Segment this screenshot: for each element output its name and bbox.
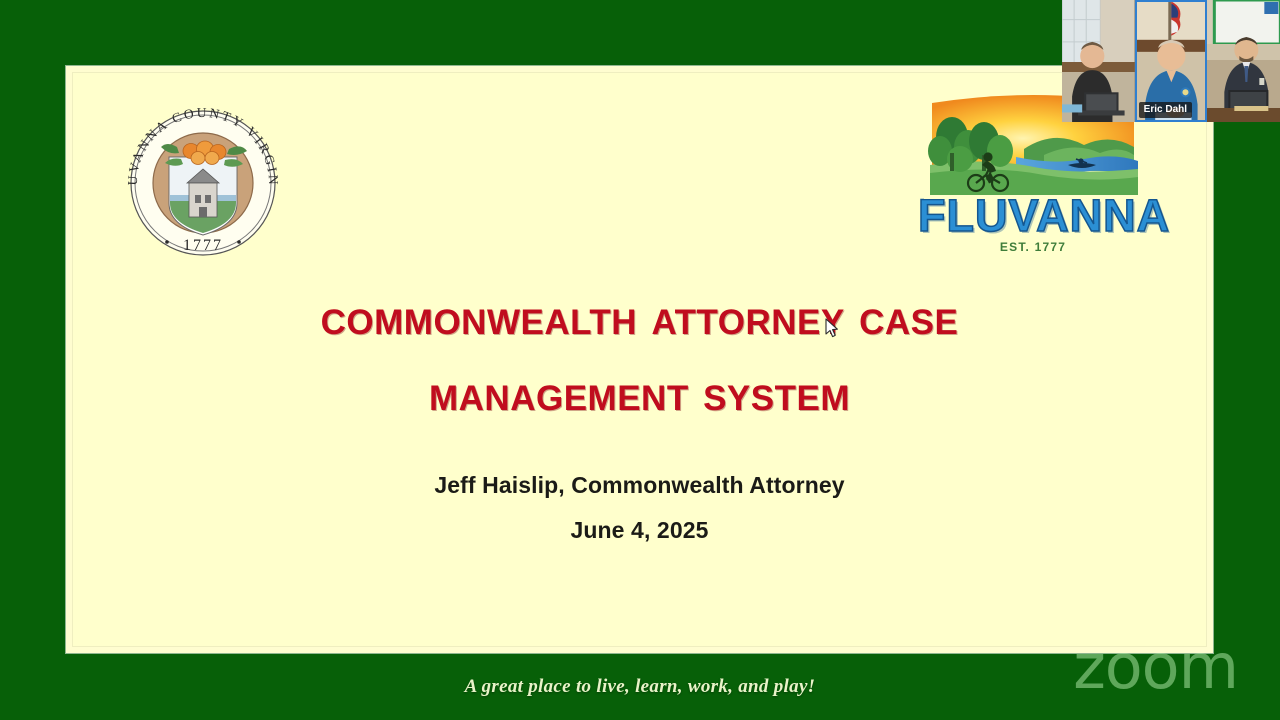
shared-slide-frame: FLUVANNA COUNTY VIRGINIA 1777 [66, 66, 1213, 653]
slide-title-line-1: Commonwealth Attorney Case [73, 279, 1206, 355]
fluvanna-wordmark: FLUVANNA [918, 195, 1148, 238]
presenter-name-line: Jeff Haislip, Commonwealth Attorney [73, 463, 1206, 508]
fluvanna-established-text: EST. 1777 [918, 240, 1148, 254]
video-tile-2-active-speaker[interactable]: Eric Dahl [1135, 0, 1208, 122]
svg-text:1777: 1777 [183, 237, 223, 254]
presentation-date-line: June 4, 2025 [73, 508, 1206, 553]
zoom-meeting-screen: FLUVANNA COUNTY VIRGINIA 1777 [0, 0, 1280, 720]
fluvanna-county-seal-icon: FLUVANNA COUNTY VIRGINIA 1777 [117, 91, 289, 263]
slide-title: Commonwealth Attorney Case Management Sy… [73, 279, 1206, 431]
video-tile-3[interactable] [1207, 0, 1280, 122]
participant-name-label: Eric Dahl [1139, 102, 1192, 118]
video-tile-1[interactable] [1062, 0, 1135, 122]
shared-slide: FLUVANNA COUNTY VIRGINIA 1777 [72, 72, 1207, 647]
zoom-watermark: zoom [1073, 636, 1238, 698]
slide-title-line-2: Management System [73, 355, 1206, 431]
participant-video-strip[interactable]: Eric Dahl [1062, 0, 1280, 122]
slide-subtitle: Jeff Haislip, Commonwealth Attorney June… [73, 463, 1206, 553]
